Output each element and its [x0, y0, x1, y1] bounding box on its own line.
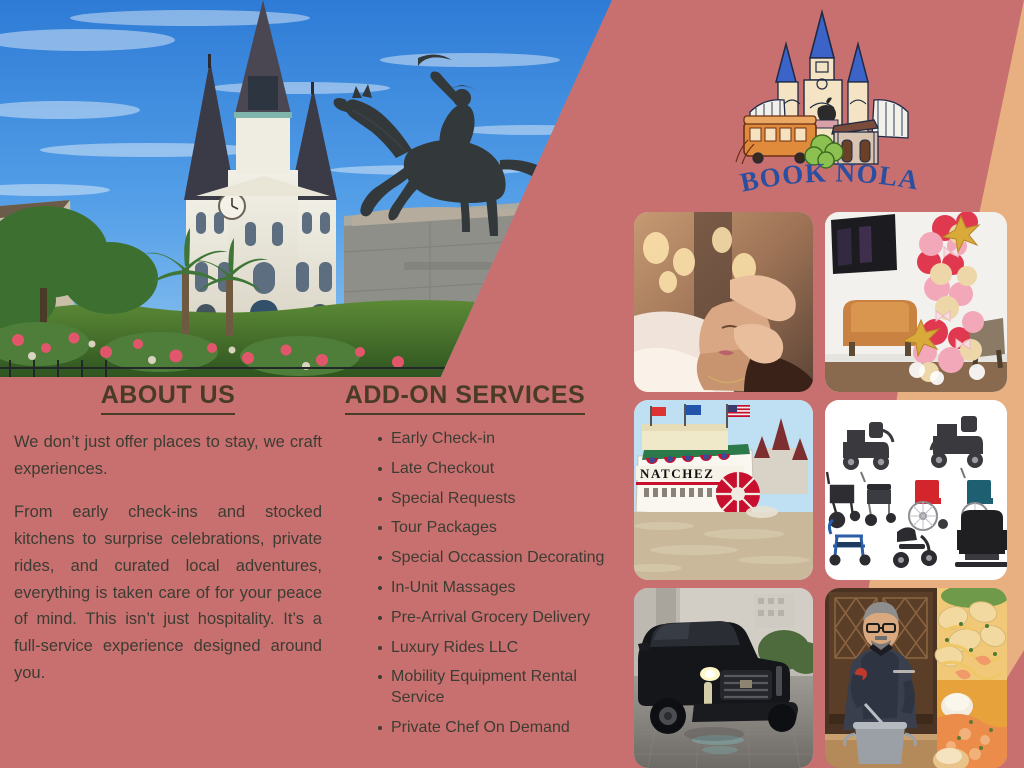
photo-balloons	[825, 212, 1007, 392]
services-list: Early Check-in Late Checkout Special Req…	[322, 429, 608, 739]
photo-suv	[634, 588, 813, 768]
photo-mobility	[825, 400, 1007, 580]
list-item: Mobility Equipment Rental Service	[378, 667, 608, 709]
about-title: ABOUT US	[101, 381, 236, 415]
brochure-page: ABOUT US We don’t just offer places to s…	[0, 0, 1024, 768]
hero-image	[0, 0, 612, 377]
about-paragraph-2: From early check-ins and stocked kitchen…	[14, 499, 322, 686]
list-item: Pre-Arrival Grocery Delivery	[378, 608, 608, 629]
services-section: ADD-ON SERVICES Early Check-in Late Chec…	[322, 381, 608, 748]
services-title: ADD-ON SERVICES	[345, 381, 585, 415]
list-item: In-Unit Massages	[378, 578, 608, 599]
photo-steamboat: NATCHEZ	[634, 400, 813, 580]
list-item: Tour Packages	[378, 518, 608, 539]
new-orleans-skyline-icon	[736, 12, 908, 168]
steamboat-name: NATCHEZ	[640, 466, 715, 481]
list-item: Private Chef On Demand	[378, 718, 608, 739]
list-item: Late Checkout	[378, 459, 608, 480]
brand-logo: BOOK NOLA	[722, 4, 937, 204]
list-item: Special Requests	[378, 489, 608, 510]
logo-text: BOOK NOLA	[738, 157, 922, 197]
photo-chef	[825, 588, 1007, 768]
about-paragraph-1: We don’t just offer places to stay, we c…	[14, 429, 322, 482]
list-item: Early Check-in	[378, 429, 608, 450]
about-section: ABOUT US We don’t just offer places to s…	[14, 381, 322, 686]
photo-massage	[634, 212, 813, 392]
list-item: Luxury Rides LLC	[378, 638, 608, 659]
svg-text:BOOK NOLA: BOOK NOLA	[738, 157, 922, 197]
list-item: Special Occassion Decorating	[378, 548, 608, 569]
